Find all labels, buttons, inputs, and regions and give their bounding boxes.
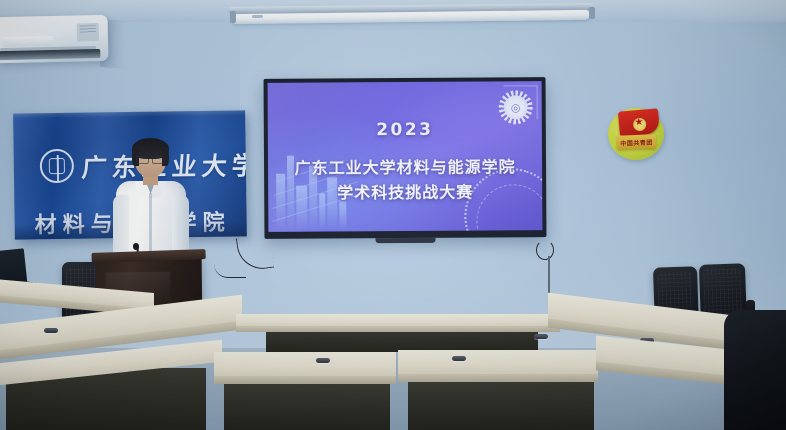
air-conditioner-grille-icon	[80, 25, 96, 33]
cable-grommet-front-right[interactable]	[452, 356, 466, 361]
air-conditioner[interactable]	[0, 15, 108, 63]
tv-mount-bracket	[375, 238, 435, 243]
slide-headline-line1: 广东工业大学材料与能源学院	[268, 153, 542, 179]
cable-grommet-front-left[interactable]	[316, 358, 330, 363]
communist-youth-league-emblem: 中国共青团	[608, 104, 668, 164]
emblem-name-plate: 中国共青团	[617, 134, 656, 149]
eyeglasses-icon	[136, 156, 165, 162]
table-front-left-underspace	[224, 384, 390, 430]
microphone-head-icon	[133, 243, 139, 250]
wall-mounted-television[interactable]: ◎ 2023 广东工业大学材料与能源学院 学术科技挑战大赛	[264, 77, 547, 239]
light-end-cap-right	[589, 7, 595, 19]
tv-screen: ◎ 2023 广东工业大学材料与能源学院 学术科技挑战大赛	[268, 81, 543, 232]
table-front-right-underspace	[408, 382, 594, 430]
table-center-rear-edge	[236, 326, 560, 332]
cable-grommet-left[interactable]	[44, 328, 58, 333]
slide-headline-line2: 学术科技挑战大赛	[268, 178, 542, 204]
light-switch-nub	[252, 15, 263, 18]
chair-foreground-right[interactable]	[724, 310, 786, 430]
emblem-star-icon	[633, 117, 647, 131]
light-end-cap-left	[230, 11, 236, 23]
table-front-left-edge	[214, 376, 396, 384]
table-front-left-top	[214, 352, 396, 378]
air-conditioner-vent	[2, 36, 54, 47]
cable-grommet-center[interactable]	[534, 334, 548, 339]
table-front-right-edge	[398, 374, 598, 382]
emblem-plate-text: 中国共青团	[617, 134, 656, 149]
slide-year: 2023	[268, 119, 542, 141]
tv-cable-loop	[536, 240, 554, 260]
table-front-right-top	[398, 350, 598, 376]
conference-room-photo: 广东工业大学 材料与能源学院 中国共青团	[0, 0, 786, 430]
